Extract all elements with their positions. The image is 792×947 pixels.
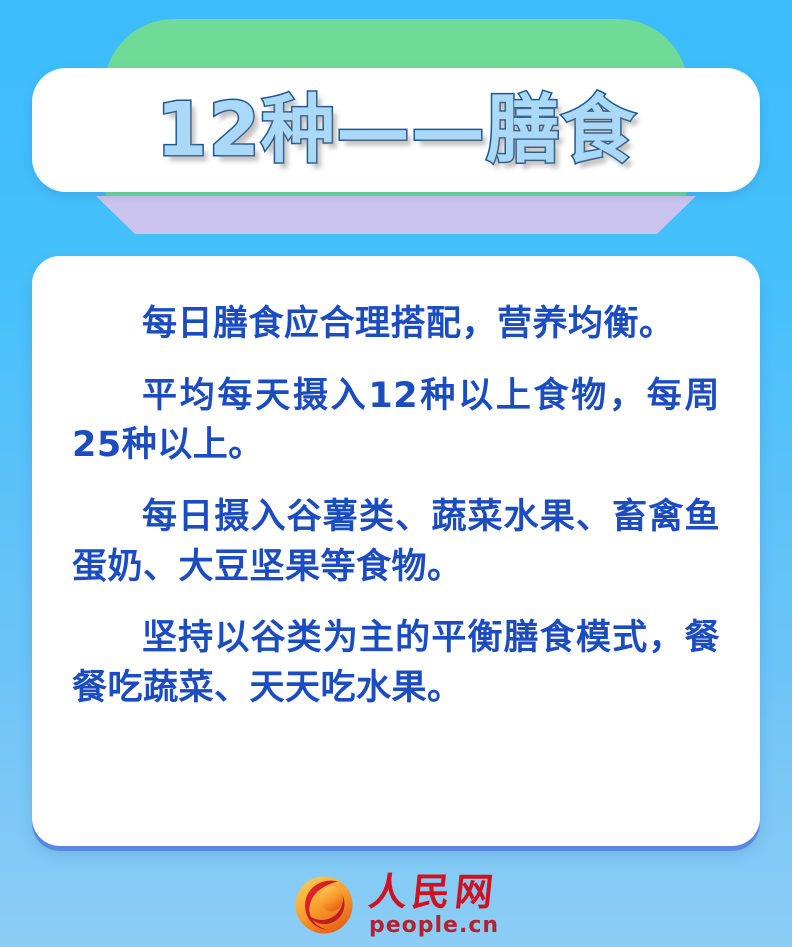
brand-name-cn: 人民网	[367, 873, 500, 911]
paragraph-1: 每日膳食应合理搭配，营养均衡。	[72, 300, 720, 350]
content-card: 每日膳食应合理搭配，营养均衡。 平均每天摄入12种以上食物，每周25种以上。 每…	[32, 256, 760, 846]
paragraph-2: 平均每天摄入12种以上食物，每周25种以上。	[72, 372, 720, 471]
people-daily-swirl-logo-icon	[293, 874, 355, 936]
paragraph-4: 坚持以谷类为主的平衡膳食模式，餐餐吃蔬菜、天天吃水果。	[72, 614, 720, 713]
paragraph-3: 每日摄入谷薯类、蔬菜水果、畜禽鱼蛋奶、大豆坚果等食物。	[72, 493, 720, 592]
poster-root: 12种——膳食 每日膳食应合理搭配，营养均衡。 平均每天摄入12种以上食物，每周…	[0, 0, 792, 947]
title-card: 12种——膳食	[32, 68, 760, 192]
brand-text-group: 人民网 people.cn	[369, 873, 499, 937]
brand-name-latin: people.cn	[369, 915, 499, 937]
page-title: 12种——膳食	[156, 93, 636, 167]
purple-decoration-shape	[96, 196, 696, 234]
footer-branding: 人民网 people.cn	[0, 862, 792, 947]
